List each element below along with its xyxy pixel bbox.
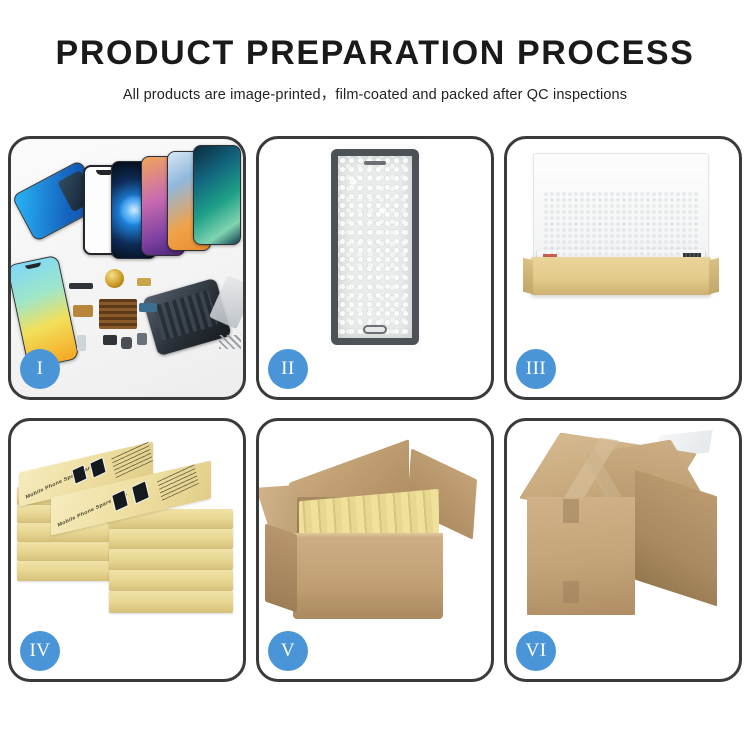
carton-front-face [293, 537, 443, 619]
carton-left-face [265, 523, 297, 612]
carton-seam [563, 499, 579, 523]
step-badge-6: VI [516, 631, 556, 671]
page-subtitle: All products are image-printed，film-coat… [0, 83, 750, 104]
small-part-icon [77, 335, 86, 351]
header: PRODUCT PREPARATION PROCESS All products… [0, 0, 750, 104]
stacked-box-edge [109, 570, 233, 591]
process-steps-grid: I II III [8, 136, 742, 682]
small-part-icon [137, 333, 147, 345]
stacked-box-edge [109, 529, 233, 549]
box-stack: Mobile Phone Spare Parts Mobile Phone Sp… [17, 443, 237, 619]
small-part-icon [139, 303, 157, 312]
phone-teal-icon [193, 145, 241, 245]
bubble-wrap-texture [338, 156, 412, 338]
speaker-part-icon [105, 269, 124, 288]
small-part-icon [69, 283, 93, 289]
product-preparation-infographic: PRODUCT PREPARATION PROCESS All products… [0, 0, 750, 750]
step-badge-2: II [268, 349, 308, 389]
box-spec-lines [111, 441, 153, 478]
wrapped-screen [331, 149, 419, 345]
process-step-panel-6: VI [504, 418, 742, 682]
small-part-icon [137, 278, 151, 286]
carton-right-face [635, 470, 717, 607]
page-title: PRODUCT PREPARATION PROCESS [0, 36, 750, 72]
stacked-box-edge [17, 542, 121, 561]
earpiece-icon [364, 161, 386, 165]
carton-seam [563, 581, 579, 603]
step-badge-3: III [516, 349, 556, 389]
step-badge-5: V [268, 631, 308, 671]
small-part-icon [103, 335, 117, 345]
carton-front-face [527, 497, 635, 615]
process-step-panel-1: I [8, 136, 246, 400]
box-art-screen-icon [89, 457, 106, 479]
process-step-panel-2: II [256, 136, 494, 400]
box-art-screen-icon [131, 480, 150, 504]
process-step-panel-5: V [256, 418, 494, 682]
box-spec-lines [157, 463, 199, 500]
small-part-icon [121, 337, 132, 349]
screws-icon [219, 335, 241, 349]
small-part-icon [73, 305, 93, 317]
home-button-icon [363, 325, 387, 334]
step-badge-1: I [20, 349, 60, 389]
stacked-box-edge [109, 591, 233, 613]
circuit-board-part-icon [99, 299, 137, 329]
stacked-box-edge [109, 549, 233, 570]
kraft-box-tray [531, 257, 711, 295]
stacked-box-edge [17, 561, 121, 581]
process-step-panel-4: Mobile Phone Spare Parts Mobile Phone Sp… [8, 418, 246, 682]
process-step-panel-3: III [504, 136, 742, 400]
step-badge-4: IV [20, 631, 60, 671]
